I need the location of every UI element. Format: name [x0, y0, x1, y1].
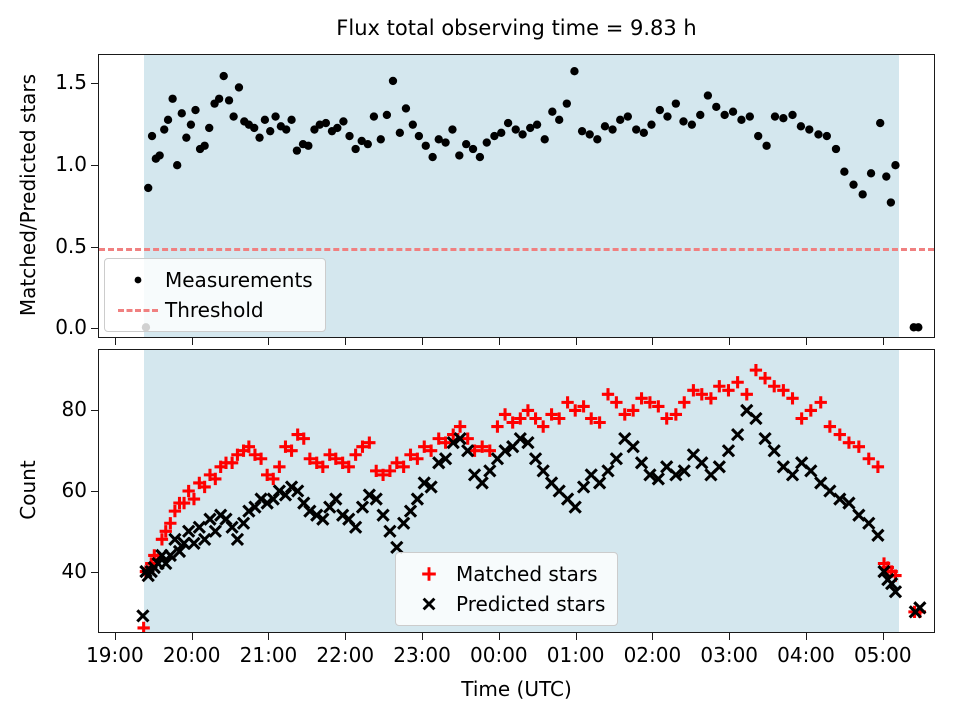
- top-panel-ylabel: Matched/Predicted stars: [16, 45, 40, 345]
- measurements-dot-icon: [115, 273, 161, 287]
- bottom-xtick-mark: [883, 633, 884, 640]
- bottom-panel-ylabel: Count: [16, 340, 40, 640]
- top-xtick-mark: [806, 338, 807, 345]
- top-xtick-mark: [115, 338, 116, 345]
- bottom-xtick-mark: [576, 633, 577, 640]
- top-xtick-mark: [268, 338, 269, 345]
- bottom-xtick-mark: [729, 633, 730, 640]
- top-xtick-mark: [345, 338, 346, 345]
- page-title: Flux total observing time = 9.83 h: [98, 16, 935, 40]
- legend-label-threshold: Threshold: [161, 298, 264, 322]
- flux-observing-figure: Flux total observing time = 9.83 h Measu…: [0, 0, 960, 720]
- bottom-xtick-mark: [499, 633, 500, 640]
- legend-item-predicted-stars[interactable]: Predicted stars: [406, 589, 605, 619]
- top-ytick-mark: [91, 328, 98, 329]
- top-xtick-mark: [192, 338, 193, 345]
- cross-marker-icon: [406, 594, 452, 614]
- top-ytick-mark: [91, 165, 98, 166]
- plus-marker-icon: [406, 564, 452, 584]
- top-ytick-mark: [91, 83, 98, 84]
- legend-item-measurements[interactable]: Measurements: [115, 265, 313, 295]
- x-axis-label: Time (UTC): [98, 677, 935, 701]
- bottom-xtick-mark: [806, 633, 807, 640]
- legend-label-predicted-stars: Predicted stars: [452, 592, 605, 616]
- top-xtick-mark: [576, 338, 577, 345]
- top-panel-legend[interactable]: Measurements Threshold: [104, 258, 326, 332]
- legend-label-measurements: Measurements: [161, 268, 313, 292]
- top-xtick-mark: [499, 338, 500, 345]
- top-xtick-mark: [729, 338, 730, 345]
- bottom-ytick-mark: [91, 410, 98, 411]
- bottom-panel-legend[interactable]: Matched stars Predicted stars: [395, 552, 618, 626]
- legend-label-matched-stars: Matched stars: [452, 562, 598, 586]
- xtick-label: 05:00: [833, 643, 933, 667]
- top-ytick-mark: [91, 247, 98, 248]
- bottom-xtick-mark: [192, 633, 193, 640]
- top-xtick-mark: [883, 338, 884, 345]
- threshold-dashed-line-icon: [115, 309, 161, 312]
- legend-item-threshold[interactable]: Threshold: [115, 295, 313, 325]
- bottom-ytick-mark: [91, 572, 98, 573]
- bottom-xtick-mark: [422, 633, 423, 640]
- bottom-ytick-mark: [91, 491, 98, 492]
- bottom-xtick-mark: [268, 633, 269, 640]
- legend-item-matched-stars[interactable]: Matched stars: [406, 559, 605, 589]
- top-xtick-mark: [422, 338, 423, 345]
- bottom-xtick-mark: [115, 633, 116, 640]
- top-xtick-mark: [652, 338, 653, 345]
- bottom-xtick-mark: [652, 633, 653, 640]
- bottom-xtick-mark: [345, 633, 346, 640]
